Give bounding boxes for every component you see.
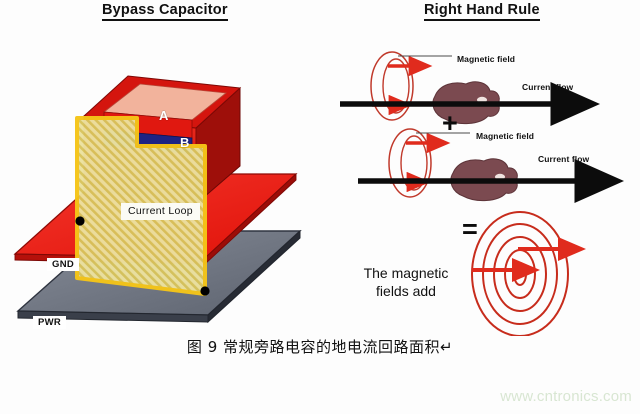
plate-b-letter: B bbox=[180, 135, 189, 150]
equals-operator: = bbox=[462, 216, 478, 243]
capacitor-3d-illustration bbox=[0, 26, 330, 336]
bypass-capacitor-diagram: GND PWR Current Loop A B bbox=[0, 26, 330, 336]
via-dot-pwr bbox=[200, 286, 209, 295]
magnetic-field-label-1: Magnetic field bbox=[457, 54, 515, 64]
current-flow-label-2: Current flow bbox=[538, 154, 589, 164]
site-watermark: www.cntronics.com bbox=[500, 388, 632, 405]
magnetic-fields-add-label: The magnetic fields add bbox=[338, 265, 474, 300]
right-hand-rule-diagram: Magnetic field Current flow Magnetic fie… bbox=[330, 26, 640, 336]
right-hand-rule-title: Right Hand Rule bbox=[424, 2, 540, 21]
rhr-diagram-2 bbox=[358, 129, 580, 201]
figure-caption: 图 9 常规旁路电容的地电流回路面积↵ bbox=[0, 336, 640, 357]
plate-a-letter: A bbox=[159, 108, 168, 123]
current-loop-label: Current Loop bbox=[121, 203, 200, 220]
pwr-label: PWR bbox=[33, 316, 66, 329]
combined-field-result bbox=[472, 212, 568, 336]
figure-canvas: Bypass Capacitor Right Hand Rule bbox=[0, 0, 640, 414]
current-flow-label-1: Current flow bbox=[522, 82, 573, 92]
bypass-capacitor-title: Bypass Capacitor bbox=[102, 2, 228, 21]
via-dot-gnd bbox=[75, 216, 84, 225]
gnd-label: GND bbox=[47, 258, 79, 271]
plus-operator: + bbox=[442, 110, 458, 137]
magnetic-field-label-2: Magnetic field bbox=[476, 131, 534, 141]
